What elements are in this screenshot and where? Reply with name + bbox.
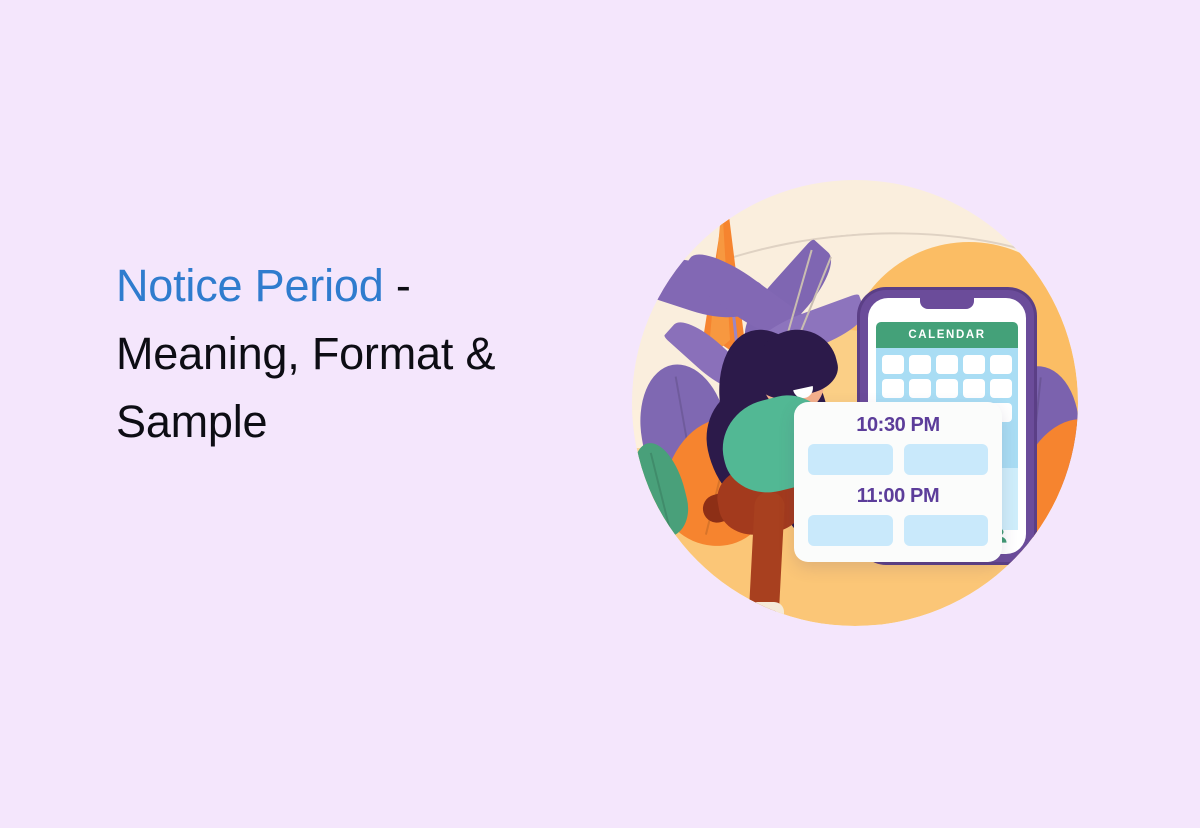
schedule-slot-row-2 (808, 515, 988, 546)
schedule-card: 10:30 PM 11:00 PM (794, 402, 1002, 562)
leg-front (749, 491, 785, 614)
foot-front (750, 602, 784, 619)
title-dash: - (384, 260, 411, 311)
page-root: Notice Period - Meaning, Format & Sample (0, 0, 1200, 828)
title-accent-text: Notice Period (116, 260, 384, 311)
hero-illustration: CALENDAR (632, 180, 1078, 626)
schedule-time-1: 10:30 PM (808, 410, 988, 440)
title-line-2: Meaning, Format & (116, 320, 586, 388)
schedule-slot-row-1 (808, 444, 988, 475)
page-title: Notice Period - Meaning, Format & Sample (116, 252, 586, 456)
title-line-3: Sample (116, 388, 586, 456)
calendar-day-cell[interactable] (990, 355, 1012, 374)
schedule-time-2: 11:00 PM (808, 481, 988, 511)
schedule-slot[interactable] (808, 515, 893, 546)
schedule-slot[interactable] (904, 444, 989, 475)
title-line-1: Notice Period - (116, 252, 586, 320)
calendar-title: CALENDAR (908, 329, 985, 341)
schedule-slot[interactable] (904, 515, 989, 546)
calendar-day-cell[interactable] (936, 355, 958, 374)
calendar-day-cell[interactable] (936, 379, 958, 398)
phone-notch (920, 298, 974, 309)
illustration-circle-background: CALENDAR (632, 180, 1078, 626)
calendar-day-cell[interactable] (963, 379, 985, 398)
calendar-day-cell[interactable] (963, 355, 985, 374)
illustration-clip: CALENDAR (632, 180, 1078, 626)
schedule-slot[interactable] (808, 444, 893, 475)
calendar-day-cell[interactable] (990, 379, 1012, 398)
